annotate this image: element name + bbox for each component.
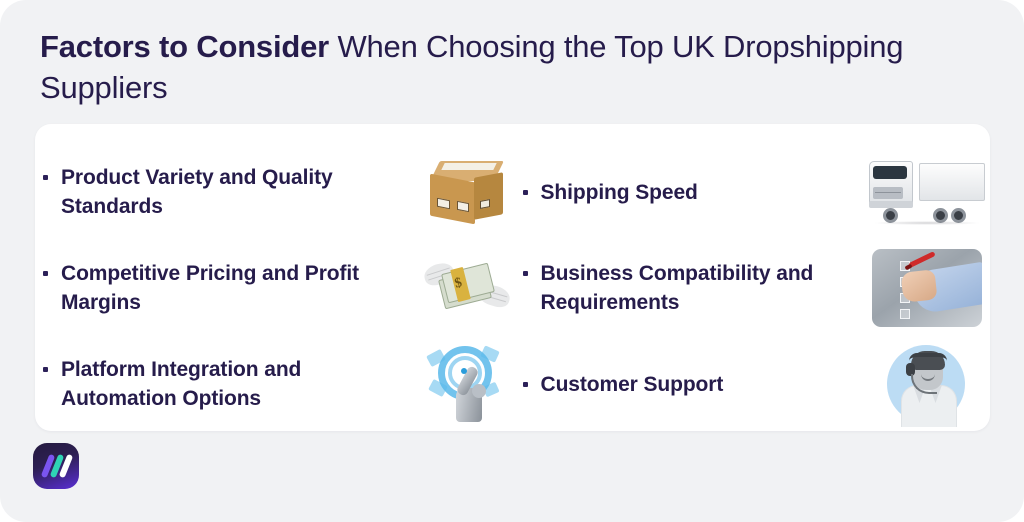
list-item[interactable]: Product Variety and Quality Standards: [43, 144, 513, 240]
truck-trailer: [919, 163, 985, 201]
support-agent-headset-icon: [864, 339, 990, 429]
bullet-dot-icon: [43, 367, 48, 372]
list-item[interactable]: Competitive Pricing and Profit Margins $: [43, 240, 513, 336]
feature-label: Business Compatibility and Requirements: [541, 259, 859, 317]
page-title: Factors to Consider When Choosing the To…: [40, 26, 940, 108]
robot-knuckle: [472, 384, 486, 398]
support-agent-glyph: [873, 341, 981, 427]
bullet-wrap: Shipping Speed: [523, 178, 859, 207]
brand-logo[interactable]: [33, 443, 79, 489]
bullet-wrap: Competitive Pricing and Profit Margins: [43, 259, 417, 317]
list-item[interactable]: Customer Support: [523, 336, 991, 432]
truck-shadow: [873, 221, 981, 225]
delivery-truck-glyph: [869, 161, 985, 223]
truck-grille: [873, 187, 903, 199]
feature-label: Product Variety and Quality Standards: [61, 163, 417, 221]
bullet-wrap: Product Variety and Quality Standards: [43, 163, 417, 221]
list-item[interactable]: Platform Integration and Automation Opti…: [43, 336, 513, 432]
box-tape: [441, 163, 496, 170]
right-column: Shipping Speed: [513, 124, 991, 431]
robot-hand-technology-icon: [421, 342, 513, 426]
list-item[interactable]: Shipping Speed: [523, 144, 991, 240]
list-item[interactable]: Business Compatibility and Requirements: [523, 240, 991, 336]
feature-label: Shipping Speed: [541, 178, 698, 207]
features-card: Product Variety and Quality Standards: [35, 124, 990, 431]
left-column: Product Variety and Quality Standards: [35, 124, 513, 431]
bullet-wrap: Platform Integration and Automation Opti…: [43, 355, 417, 413]
feature-label: Competitive Pricing and Profit Margins: [61, 259, 417, 317]
red-pen-icon: [908, 251, 935, 268]
headset-band-icon: [909, 353, 947, 361]
robot-hand-glyph: [426, 344, 508, 424]
bullet-dot-icon: [43, 175, 48, 180]
feature-label: Platform Integration and Automation Opti…: [61, 355, 417, 413]
box-side-face: [474, 172, 503, 220]
truck-windshield: [873, 166, 907, 179]
bullet-dot-icon: [43, 271, 48, 276]
page-title-strong: Factors to Consider: [40, 29, 329, 64]
bullet-wrap: Customer Support: [523, 370, 859, 399]
flying-money-glyph: $: [424, 258, 510, 318]
bullet-wrap: Business Compatibility and Requirements: [523, 259, 859, 317]
infographic-root: Factors to Consider When Choosing the To…: [0, 0, 1024, 522]
bullet-dot-icon: [523, 382, 528, 387]
checklist-hand-pen-icon: [864, 243, 990, 333]
cardboard-box-icon: [421, 150, 513, 234]
truck-bumper: [869, 201, 913, 208]
touch-point-icon: [461, 368, 467, 374]
hand-fist: [901, 269, 938, 302]
cardboard-box-glyph: [429, 161, 505, 223]
flying-money-icon: $: [421, 246, 513, 330]
feature-label: Customer Support: [541, 370, 724, 399]
checklist-hand-pen-glyph: [872, 249, 982, 327]
delivery-truck-icon: [864, 147, 990, 237]
bullet-dot-icon: [523, 271, 528, 276]
features-columns: Product Variety and Quality Standards: [35, 124, 990, 431]
bullet-dot-icon: [523, 190, 528, 195]
checkbox-4: [900, 309, 910, 319]
